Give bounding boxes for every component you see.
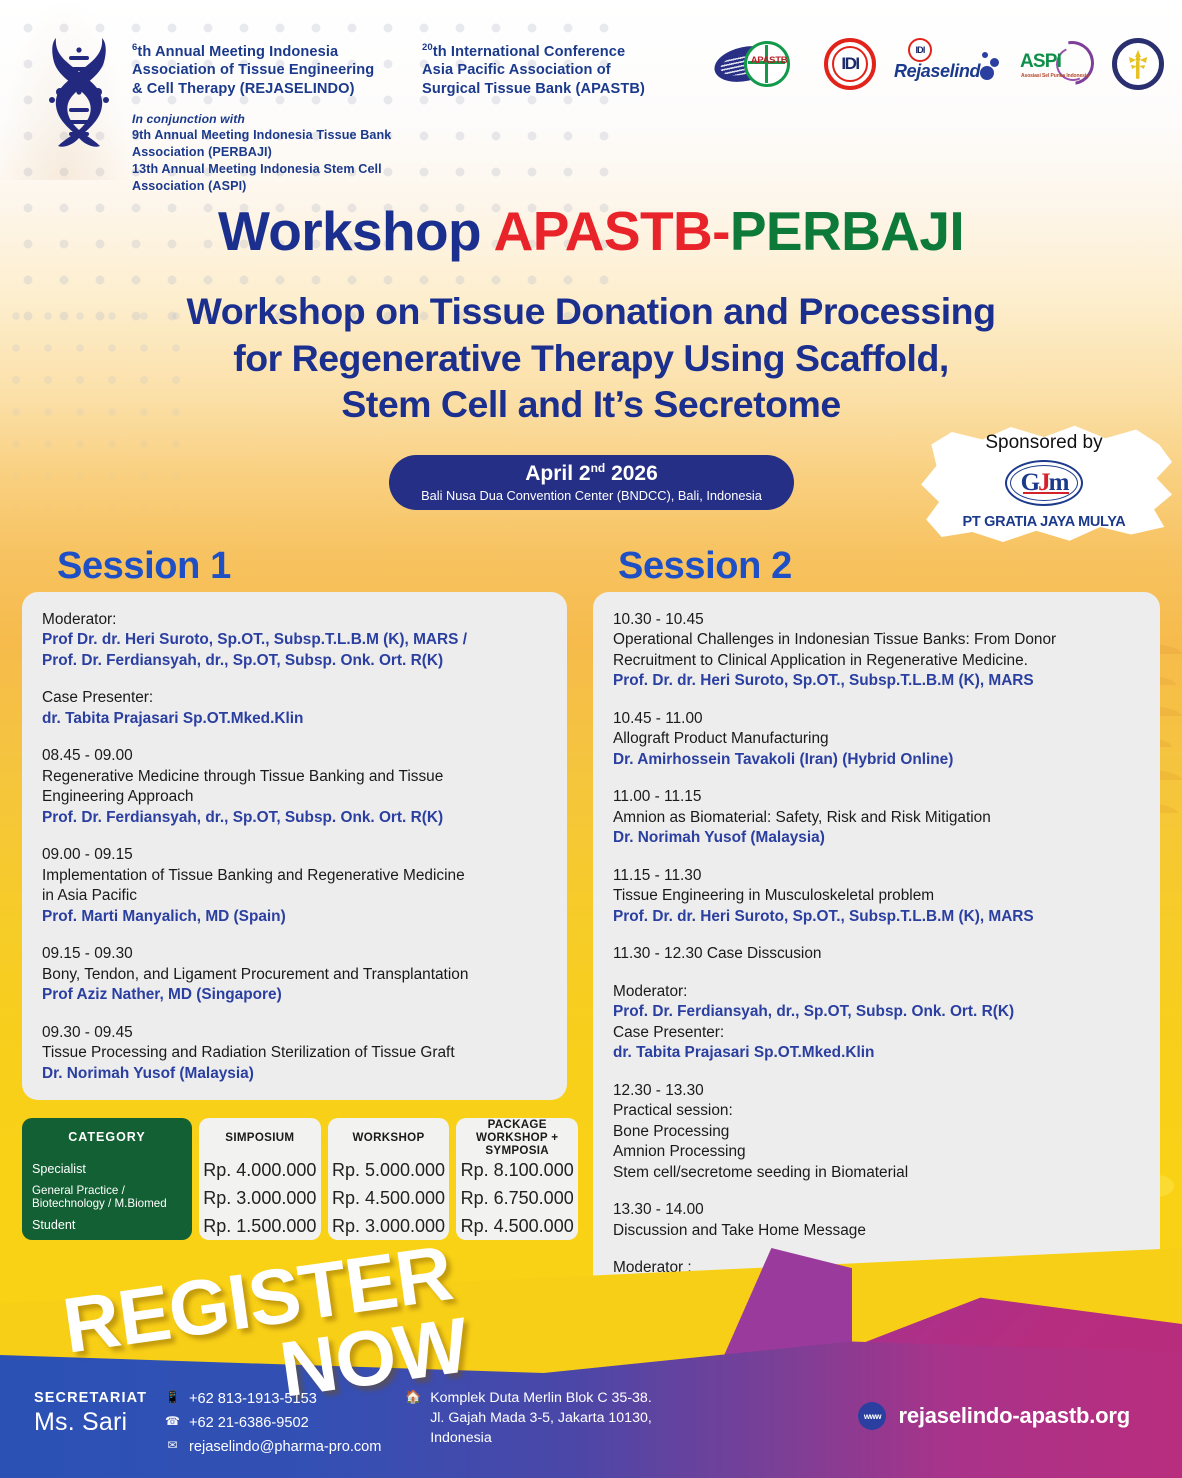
event-venue: Bali Nusa Dua Convention Center (BNDCC),… xyxy=(421,488,762,503)
price-category-column: CATEGORYSpecialistGeneral Practice /Biot… xyxy=(22,1118,192,1240)
phone-number[interactable]: +62 21-6386-9502 xyxy=(189,1412,309,1436)
session-1-heading: Session 1 xyxy=(57,545,231,588)
agenda-speaker-line: Prof. Dr. Ferdiansyah, dr., Sp.OT, Subsp… xyxy=(42,651,547,671)
title-dash: - xyxy=(712,200,730,262)
agenda-text-line: Amnion as Biomaterial: Safety, Risk and … xyxy=(613,808,1140,828)
title-perbaji-word: PERBAJI xyxy=(730,200,964,262)
price-column-workshop: WORKSHOPRp. 5.000.000Rp. 4.500.000Rp. 3.… xyxy=(328,1118,450,1240)
date-badge: April 2nd 2026 Bali Nusa Dua Convention … xyxy=(389,455,794,510)
price-category-cell: Specialist xyxy=(22,1156,192,1184)
agenda-block: 11.30 - 12.30 Case Disscusion xyxy=(613,944,1140,964)
price-column-simposium: SIMPOSIUMRp. 4.000.000Rp. 3.000.000Rp. 1… xyxy=(199,1118,321,1240)
agenda-text-line: Case Presenter: xyxy=(613,1023,1140,1043)
aspi-logo-text: ASPI xyxy=(1020,51,1061,73)
org-right-line1: th International Conference xyxy=(433,44,625,60)
agenda-text-line: Moderator: xyxy=(613,982,1140,1002)
partner-logo-strip: APASTB IDI IDI Rejaselindo ASPI Asosiasi… xyxy=(714,38,1164,90)
org-right-line3: Surgical Tissue Bank (APASTB) xyxy=(422,80,712,98)
rejaselindo-logo: IDI Rejaselindo xyxy=(894,38,1002,90)
agenda-block: 12.30 - 13.30Practical session:Bone Proc… xyxy=(613,1081,1140,1183)
agenda-speaker-line: Prof Aziz Nather, MD (Singapore) xyxy=(42,985,547,1005)
price-cell: Rp. 4.500.000 xyxy=(456,1212,578,1240)
agenda-block: Moderator:Prof. Dr. Ferdiansyah, dr., Sp… xyxy=(613,982,1140,1064)
price-column-header: SIMPOSIUM xyxy=(199,1118,321,1156)
agenda-speaker-line: Dr. Amirhossein Tavakoli (Iran) (Hybrid … xyxy=(613,750,1140,770)
agenda-speaker-line: Prof. Dr. dr. Heri Suroto, Sp.OT., Subsp… xyxy=(613,907,1140,927)
session-2-heading: Session 2 xyxy=(618,545,792,588)
price-column-header: WORKSHOP xyxy=(328,1118,450,1156)
agenda-text-line: 13.30 - 14.00 xyxy=(613,1200,1140,1220)
agenda-block: 10.30 - 10.45Operational Challenges in I… xyxy=(613,610,1140,692)
agenda-text-line: Discussion and Take Home Message xyxy=(613,1221,1140,1241)
address-line-2: Jl. Gajah Mada 3-5, Jakarta 10130, xyxy=(430,1410,652,1426)
session-1-card: Moderator:Prof Dr. dr. Heri Suroto, Sp.O… xyxy=(22,592,567,1100)
header-org-right: 20th International Conference Asia Pacif… xyxy=(422,42,712,195)
agenda-text-line: in Asia Pacific xyxy=(42,886,547,906)
agenda-text-line: Allograft Product Manufacturing xyxy=(613,729,1140,749)
perbaji-logo xyxy=(1112,38,1164,90)
sponsor-company-name: PT GRATIA JAYA MULYA xyxy=(916,514,1172,530)
agenda-text-line: Stem cell/secretome seeding in Biomateri… xyxy=(613,1163,1140,1183)
price-column-header: PACKAGE WORKSHOP +SYMPOSIA xyxy=(456,1118,578,1156)
agenda-block: 09.15 - 09.30Bony, Tendon, and Ligament … xyxy=(42,944,547,1005)
address-line-1: Komplek Duta Merlin Blok C 35-38. xyxy=(430,1390,652,1406)
agenda-block: 10.45 - 11.00Allograft Product Manufactu… xyxy=(613,709,1140,770)
address-block: 🏠 Komplek Duta Merlin Blok C 35-38. Jl. … xyxy=(405,1388,652,1448)
agenda-block: Case Presenter:dr. Tabita Prajasari Sp.O… xyxy=(42,688,547,729)
rejaselindo-seal-text: IDI xyxy=(915,45,924,55)
agenda-speaker-line: Prof Dr. dr. Heri Suroto, Sp.OT., Subsp.… xyxy=(42,630,547,650)
mobile-row[interactable]: 📱 +62 813-1913-5153 xyxy=(165,1388,381,1412)
subtitle-line-1: Workshop on Tissue Donation and Processi… xyxy=(0,288,1182,335)
apastb-logo-text: APASTB xyxy=(740,55,798,66)
gjm-logo: GJm xyxy=(1005,460,1083,506)
price-column-package: PACKAGE WORKSHOP +SYMPOSIARp. 8.100.000R… xyxy=(456,1118,578,1240)
agenda-text-line: 08.45 - 09.00 xyxy=(42,746,547,766)
event-date-sup: nd xyxy=(591,461,606,475)
price-category-text: General Practice / xyxy=(32,1184,125,1197)
price-cell: Rp. 4.000.000 xyxy=(199,1156,321,1184)
agenda-text-line: Bony, Tendon, and Ligament Procurement a… xyxy=(42,965,547,985)
price-category-cell: General Practice /Biotechnology / M.Biom… xyxy=(22,1184,192,1212)
org-right-line2: Asia Pacific Association of xyxy=(422,61,712,79)
agenda-text-line: 11.30 - 12.30 Case Disscusion xyxy=(613,944,1140,964)
org-left-line1: th Annual Meeting Indonesia xyxy=(137,44,338,60)
agenda-speaker-line: Prof. Dr. Ferdiansyah, dr., Sp.OT, Subsp… xyxy=(42,808,547,828)
rejaselindo-logo-text: Rejaselindo xyxy=(894,61,991,82)
idi-logo: IDI xyxy=(824,38,876,90)
agenda-text-line: 10.45 - 11.00 xyxy=(613,709,1140,729)
price-cell: Rp. 3.000.000 xyxy=(328,1212,450,1240)
price-category-header: CATEGORY xyxy=(22,1118,192,1156)
agenda-text-line: Engineering Approach xyxy=(42,787,547,807)
agenda-text-line: Amnion Processing xyxy=(613,1142,1140,1162)
email-row[interactable]: ✉ rejaselindo@pharma-pro.com xyxy=(165,1436,381,1460)
agenda-block: 11.00 - 11.15Amnion as Biomaterial: Safe… xyxy=(613,787,1140,848)
phone-row[interactable]: ☎ +62 21-6386-9502 xyxy=(165,1412,381,1436)
mobile-number[interactable]: +62 813-1913-5153 xyxy=(189,1388,317,1412)
price-cell: Rp. 5.000.000 xyxy=(328,1156,450,1184)
agenda-text-line: Case Presenter: xyxy=(42,688,547,708)
subtitle-line-2: for Regenerative Therapy Using Scaffold, xyxy=(0,335,1182,382)
agenda-text-line: Implementation of Tissue Banking and Reg… xyxy=(42,866,547,886)
agenda-text-line: 09.00 - 09.15 xyxy=(42,845,547,865)
conjunction-line1: 9th Annual Meeting Indonesia Tissue Bank… xyxy=(132,127,422,161)
website-url[interactable]: rejaselindo-apastb.org xyxy=(898,1403,1130,1429)
price-cell: Rp. 4.500.000 xyxy=(328,1184,450,1212)
agenda-text-line: 10.30 - 10.45 xyxy=(613,610,1140,630)
apastb-logo: APASTB xyxy=(714,38,806,90)
conjunction-label: In conjunction with xyxy=(132,111,422,127)
agenda-speaker-line: Prof. Dr. dr. Heri Suroto, Sp.OT., Subsp… xyxy=(613,671,1140,691)
agenda-block: 09.30 - 09.45Tissue Processing and Radia… xyxy=(42,1023,547,1084)
agenda-text-line: 09.15 - 09.30 xyxy=(42,944,547,964)
poster-footer: SECRETARIAT Ms. Sari 📱 +62 813-1913-5153… xyxy=(0,1368,1182,1478)
price-header-line-2: SYMPOSIA xyxy=(485,1144,549,1157)
home-icon: 🏠 xyxy=(405,1388,421,1448)
agenda-text-line: 09.30 - 09.45 xyxy=(42,1023,547,1043)
dna-helix-logo xyxy=(36,34,122,152)
aspi-logo-subtext: Asosiasi Sel Punca Indonesia xyxy=(1021,73,1089,79)
price-category-cell: Student xyxy=(22,1212,192,1240)
secretariat-block: SECRETARIAT Ms. Sari xyxy=(34,1390,147,1437)
poster-root: 6th Annual Meeting Indonesia Association… xyxy=(0,0,1182,1478)
agenda-speaker-line: dr. Tabita Prajasari Sp.OT.Mked.Klin xyxy=(42,709,547,729)
address-line-3: Indonesia xyxy=(430,1430,492,1446)
agenda-text-line: Bone Processing xyxy=(613,1122,1140,1142)
envelope-icon: ✉ xyxy=(165,1436,180,1456)
conjunction-line2: 13th Annual Meeting Indonesia Stem Cell … xyxy=(132,161,422,195)
idi-logo-text: IDI xyxy=(841,54,858,74)
www-globe-icon: www xyxy=(858,1402,886,1430)
price-cell: Rp. 8.100.000 xyxy=(456,1156,578,1184)
agenda-speaker-line: Prof. Marti Manyalich, MD (Spain) xyxy=(42,907,547,927)
subtitle-line-3: Stem Cell and It’s Secretome xyxy=(0,381,1182,428)
email-address[interactable]: rejaselindo@pharma-pro.com xyxy=(189,1436,381,1460)
phone-icon: ☎ xyxy=(165,1412,180,1432)
tree-icon xyxy=(1123,48,1153,80)
org-left-line3: & Cell Therapy (REJASELINDO) xyxy=(132,80,422,98)
price-cell: Rp. 6.750.000 xyxy=(456,1184,578,1212)
agenda-text-line: Regenerative Medicine through Tissue Ban… xyxy=(42,767,547,787)
price-header-line-1: PACKAGE WORKSHOP + xyxy=(476,1118,558,1144)
agenda-block: 09.00 - 09.15Implementation of Tissue Ba… xyxy=(42,845,547,927)
agenda-text-line: Tissue Engineering in Musculoskeletal pr… xyxy=(613,886,1140,906)
price-cell: Rp. 1.500.000 xyxy=(199,1212,321,1240)
price-table: CATEGORYSpecialistGeneral Practice /Biot… xyxy=(22,1118,578,1240)
title-apastb-word: APASTB xyxy=(494,200,712,262)
event-year: 2026 xyxy=(605,462,658,485)
mobile-phone-icon: 📱 xyxy=(165,1388,180,1408)
page-title: Workshop APASTB-PERBAJI xyxy=(0,204,1182,259)
agenda-text-line: Practical session: xyxy=(613,1101,1140,1121)
agenda-block: 11.15 - 11.30Tissue Engineering in Muscu… xyxy=(613,866,1140,927)
event-date: April 2 xyxy=(525,462,590,485)
org-left-line2: Association of Tissue Engineering xyxy=(132,61,422,79)
agenda-speaker-line: Prof. Dr. Ferdiansyah, dr., Sp.OT, Subsp… xyxy=(613,1002,1140,1022)
website-block[interactable]: www rejaselindo-apastb.org xyxy=(858,1402,1130,1430)
org-right-sup: 20 xyxy=(422,42,433,53)
agenda-text-line: Recruitment to Clinical Application in R… xyxy=(613,651,1140,671)
agenda-text-line: Tissue Processing and Radiation Steriliz… xyxy=(42,1043,547,1063)
agenda-speaker-line: Dr. Norimah Yusof (Malaysia) xyxy=(42,1064,547,1084)
agenda-text-line: Moderator: xyxy=(42,610,547,630)
agenda-text-line: 12.30 - 13.30 xyxy=(613,1081,1140,1101)
agenda-text-line: 11.00 - 11.15 xyxy=(613,787,1140,807)
secretariat-name: Ms. Sari xyxy=(34,1408,147,1437)
price-cell: Rp. 3.000.000 xyxy=(199,1184,321,1212)
secretariat-label: SECRETARIAT xyxy=(34,1390,147,1406)
header-org-left: 6th Annual Meeting Indonesia Association… xyxy=(132,42,422,195)
agenda-text-line: 11.15 - 11.30 xyxy=(613,866,1140,886)
contact-block: 📱 +62 813-1913-5153 ☎ +62 21-6386-9502 ✉… xyxy=(165,1388,381,1459)
agenda-speaker-line: dr. Tabita Prajasari Sp.OT.Mked.Klin xyxy=(613,1043,1140,1063)
title-workshop-word: Workshop xyxy=(218,200,494,262)
agenda-text-line: Operational Challenges in Indonesian Tis… xyxy=(613,630,1140,650)
price-category-text-2: Biotechnology / M.Biomed xyxy=(32,1197,167,1210)
sponsor-block: Sponsored by GJm PT GRATIA JAYA MULYA xyxy=(916,422,1172,547)
page-subtitle: Workshop on Tissue Donation and Processi… xyxy=(0,288,1182,428)
aspi-logo: ASPI Asosiasi Sel Punca Indonesia xyxy=(1020,38,1094,90)
agenda-block: Moderator:Prof Dr. dr. Heri Suroto, Sp.O… xyxy=(42,610,547,671)
sponsored-by-label: Sponsored by xyxy=(916,432,1172,454)
agenda-block: 08.45 - 09.00Regenerative Medicine throu… xyxy=(42,746,547,828)
agenda-block: 13.30 - 14.00Discussion and Take Home Me… xyxy=(613,1200,1140,1241)
agenda-speaker-line: Dr. Norimah Yusof (Malaysia) xyxy=(613,828,1140,848)
